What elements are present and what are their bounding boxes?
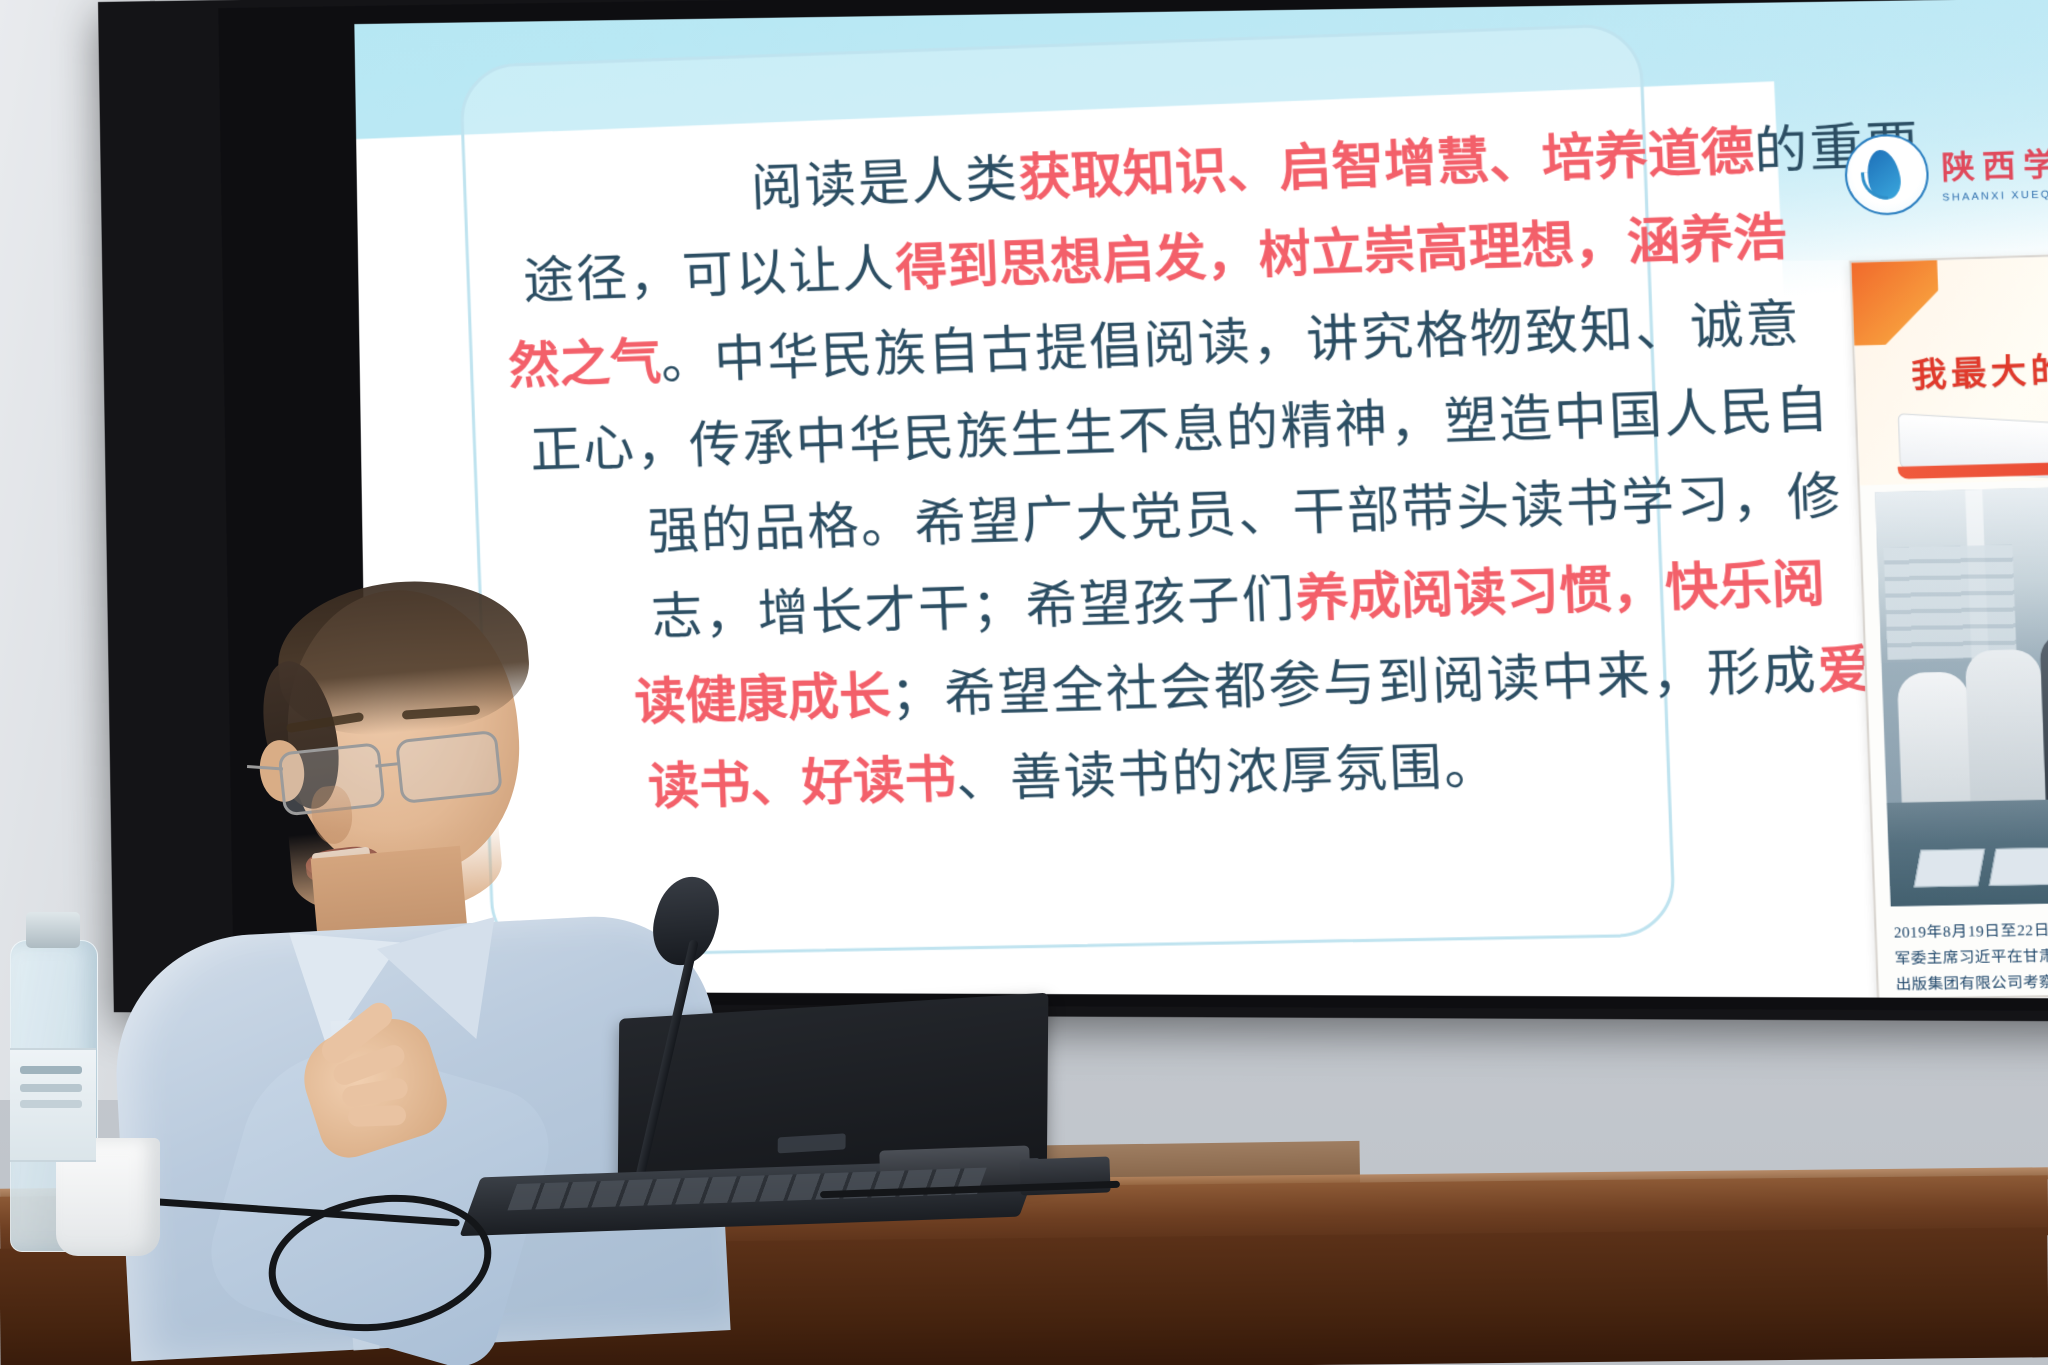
university-emblem-icon (1843, 133, 1930, 216)
slide-text-segment: 途径，可以让人 (522, 240, 897, 310)
photo-document (1914, 849, 1985, 888)
slide-text-segment: 阅读是人类 (750, 150, 1020, 217)
university-name-cn: 陕西学前师范学院 (1940, 131, 2048, 188)
slide-text-segment: 然之气 (507, 333, 662, 395)
slide-text-segment: 志，增长才干；希望孩子们 (650, 570, 1297, 645)
university-logo: 陕西学前师范学院 SHAANXI XUEQIAN NORMAL UNIVERSI… (1843, 113, 2048, 224)
university-logo-text: 陕西学前师范学院 SHAANXI XUEQIAN NORMAL UNIVERSI… (1940, 131, 2048, 204)
slide-text-segment: 获取知识、启智增慧、培养道德 (1018, 122, 1756, 207)
photo-document (1989, 847, 2048, 886)
glasses-lens-right (395, 730, 503, 804)
slide-text-segment: ；希望全社会都参与到阅读中来，形成 (889, 642, 1819, 724)
slide-text-segment: 养成阅读习惯，快乐阅 (1295, 555, 1826, 628)
photo-people-group (1880, 607, 2048, 829)
slide-text-segment: 、善读书的浓厚氛围。 (955, 737, 1500, 808)
bottle-cap (26, 912, 80, 948)
corner-ribbon-decor (1849, 254, 1940, 346)
laptop-brand-logo (778, 1133, 846, 1153)
news-photograph (1875, 481, 2048, 906)
photo-display-table (1887, 795, 2048, 907)
slide-text-segment: 得到思想启发，树立崇高理想，涵养浩 (894, 208, 1787, 297)
presenter-finger (348, 1105, 407, 1127)
bottle-label (10, 1048, 96, 1162)
open-book-icon (1889, 396, 2048, 481)
slide-photo-card: 我最大的爱好是读书 (1849, 247, 2048, 1000)
lecture-scene: 阅读是人类获取知识、启智增慧、培养道德的重要 途径，可以让人得到思想启发，树立崇… (0, 0, 2048, 1365)
photo-caption: 2019年8月19日至22日，中共中央总书记、国家主席、中央军委主席习近平在甘肃… (1893, 914, 2048, 999)
